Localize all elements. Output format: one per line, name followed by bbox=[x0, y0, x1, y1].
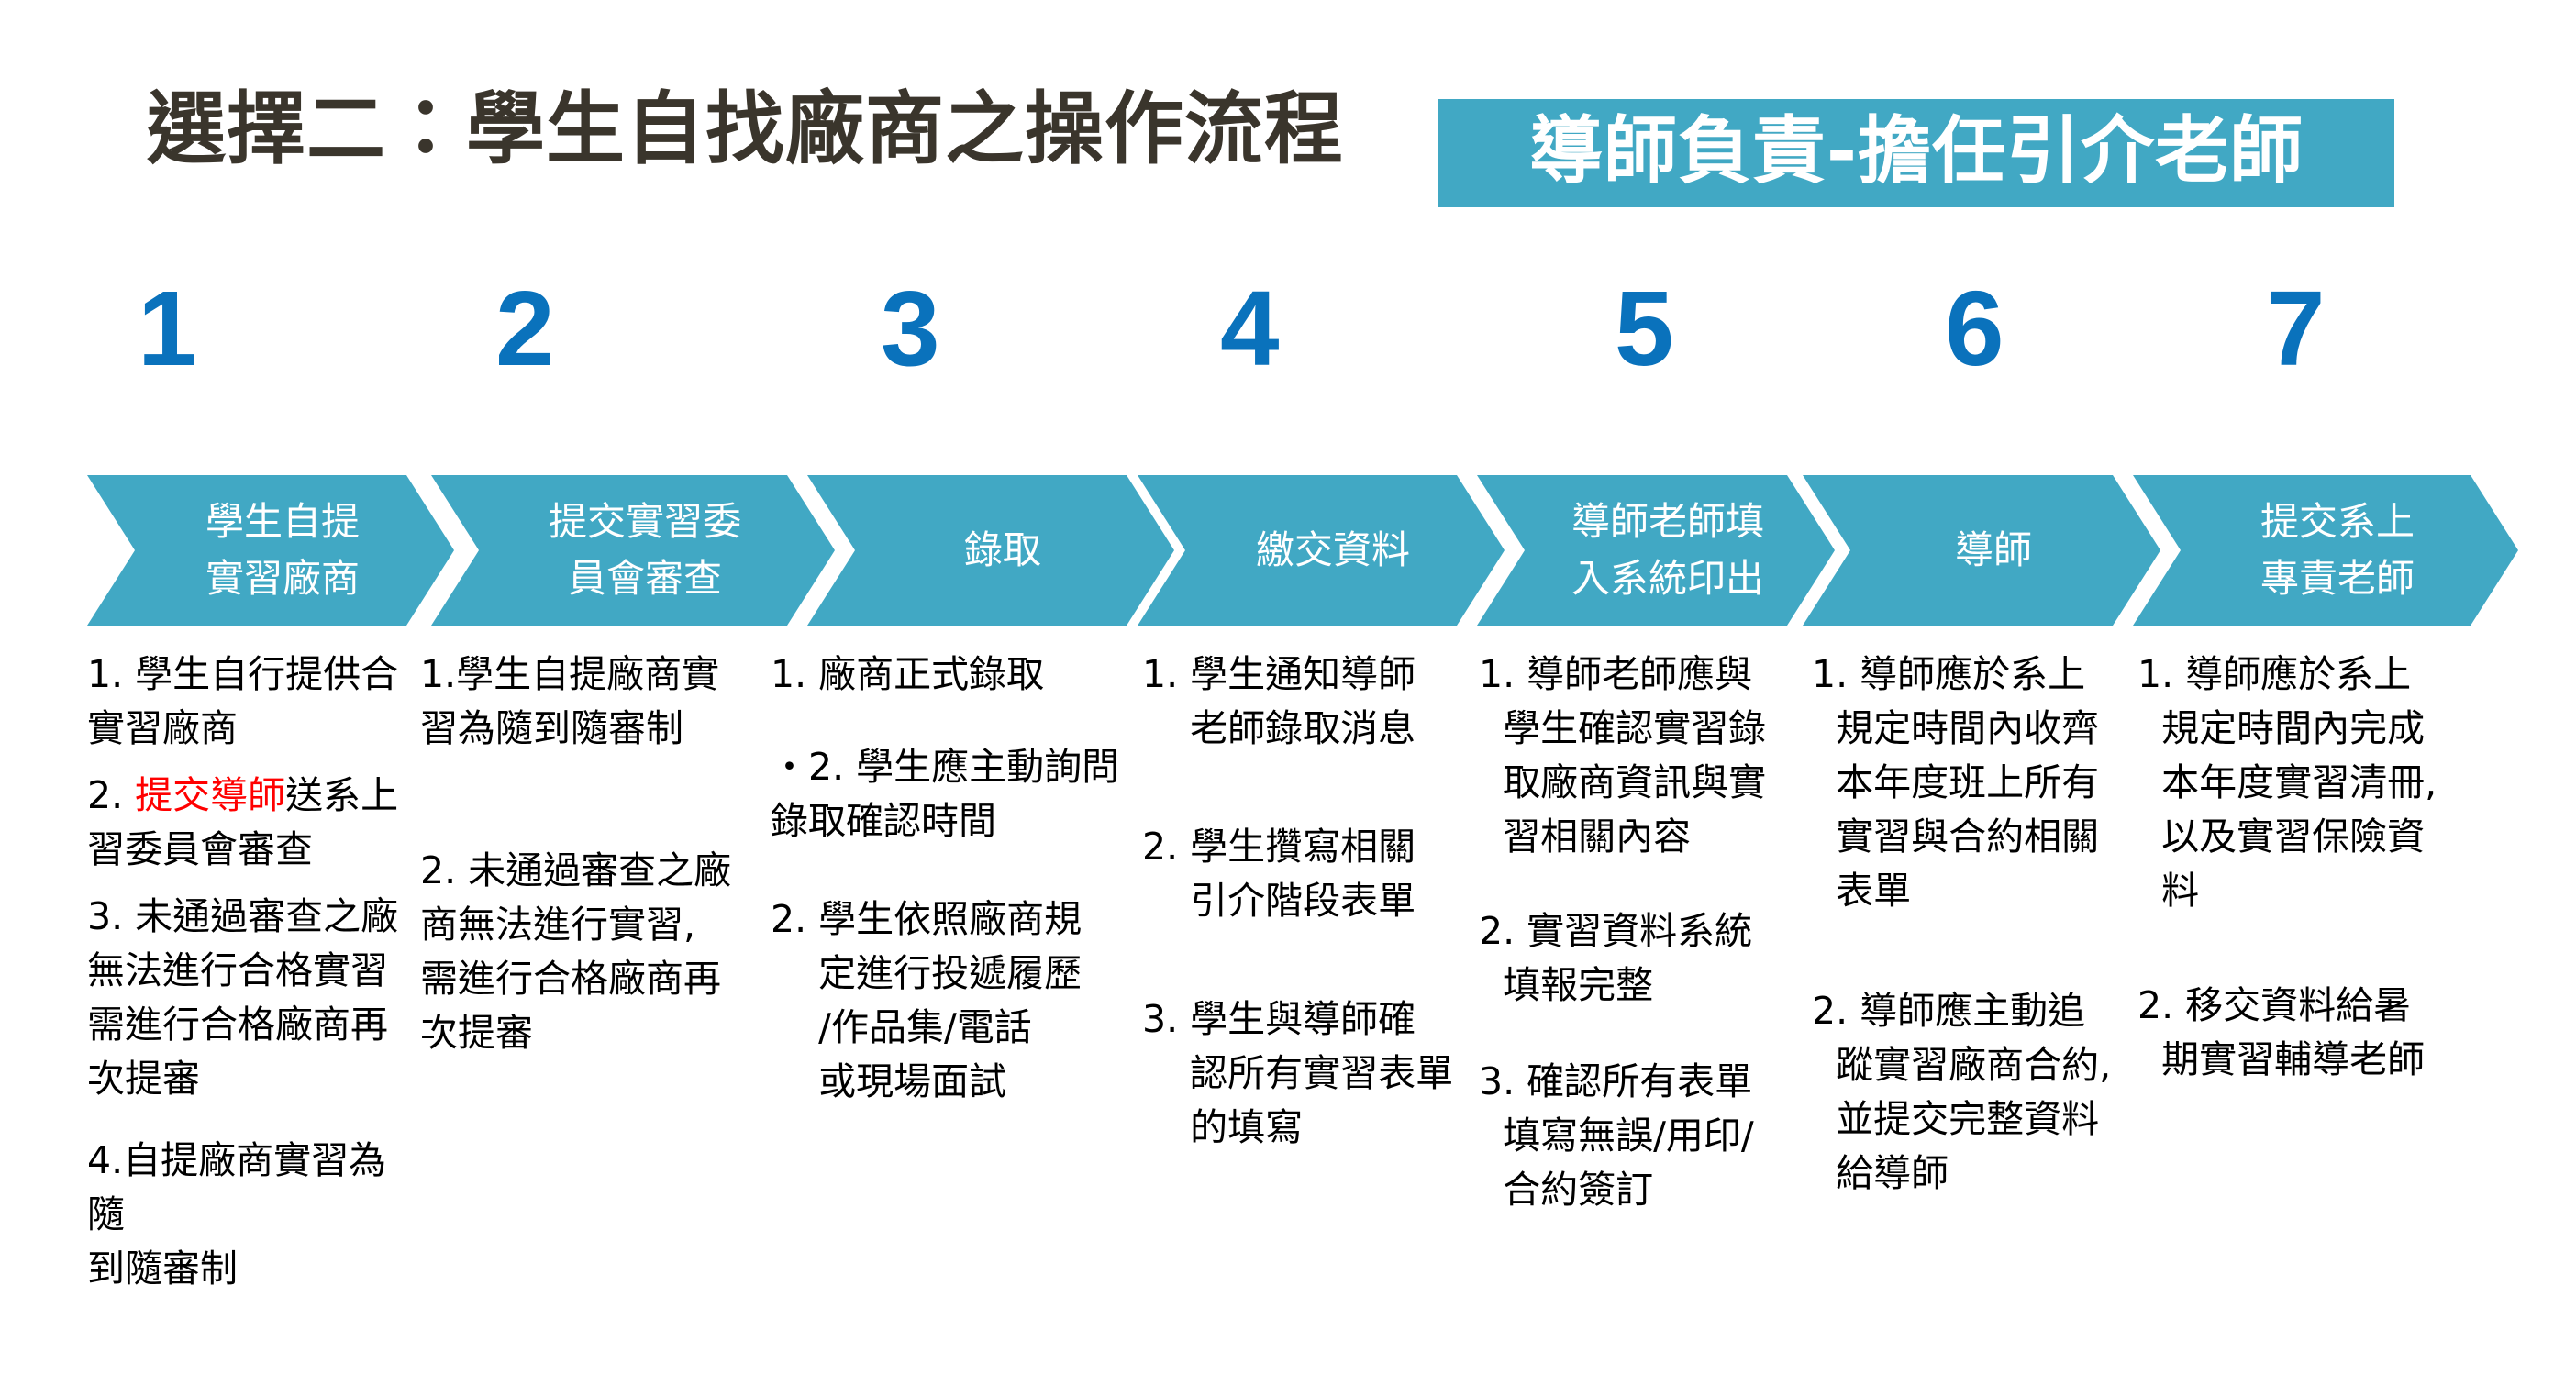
detail-item-text: 廠商正式錄取 bbox=[818, 652, 1044, 696]
chevron-label-line: 學生自提 bbox=[182, 493, 360, 550]
chevron-label-line: 入系統印出 bbox=[1548, 550, 1764, 607]
chevron-row: 學生自提實習廠商提交實習委員會審查錄取繳交資料導師老師填入系統印出導師提交系上專… bbox=[0, 475, 2576, 626]
detail-column-step-1: 1. 學生自行提供合 實習廠商2. 提交導師送系上 習委員會審查3. 未通過審查… bbox=[87, 648, 404, 1381]
chevron-label-line: 專責老師 bbox=[2237, 550, 2415, 607]
detail-item-marker: 2. bbox=[1479, 909, 1527, 953]
header: 選擇二：學生自找廠商之操作流程 導師負責-擔任引介老師 bbox=[0, 0, 2576, 248]
step-number-2: 2 bbox=[495, 275, 555, 382]
detail-item: 2. 實習資料系統 填報完整 bbox=[1479, 904, 1804, 1013]
chevron-label-line: 實習廠商 bbox=[182, 550, 360, 607]
detail-item-highlight: 提交導師 bbox=[135, 773, 285, 817]
detail-item-text: 自提廠商實習為隨 到隨審制 bbox=[87, 1138, 386, 1291]
detail-item-marker: 2. bbox=[771, 897, 818, 941]
detail-item-marker: 2. bbox=[1142, 825, 1190, 869]
detail-item: 3. 學生與導師確 認所有實習表單 的填寫 bbox=[1142, 992, 1472, 1155]
chevron-label-line: 提交實習委 bbox=[525, 493, 741, 550]
detail-item: 2. 學生攢寫相關 引介階段表單 bbox=[1142, 820, 1472, 928]
step-number-4: 4 bbox=[1220, 275, 1280, 382]
step-number-1: 1 bbox=[138, 275, 197, 382]
detail-item-marker: 1. bbox=[1479, 652, 1527, 696]
detail-item-marker: 1. bbox=[771, 652, 818, 696]
detail-item-marker: 2. bbox=[2137, 983, 2185, 1027]
detail-item-marker: 2. bbox=[420, 848, 468, 892]
flow-diagram-page: 選擇二：學生自找廠商之操作流程 導師負責-擔任引介老師 1234567 學生自提… bbox=[0, 0, 2576, 1385]
detail-item: 2. 移交資料給暑 期實習輔導老師 bbox=[2137, 979, 2440, 1087]
detail-item: 1. 學生自行提供合 實習廠商 bbox=[87, 648, 404, 756]
chevron-label-line: 繳交資料 bbox=[1232, 522, 1410, 579]
detail-item-marker: 3. bbox=[87, 894, 135, 938]
detail-item-marker: ・2. bbox=[771, 745, 856, 789]
detail-item: 1. 廠商正式錄取 bbox=[771, 648, 1133, 702]
detail-item: 3. 未通過審查之廠 無法進行合格實習 需進行合格廠商再 次提審 bbox=[87, 890, 404, 1106]
detail-item: 2. 學生依照廠商規 定進行投遞履歷 /作品集/電話 或現場面試 bbox=[771, 892, 1133, 1109]
detail-item-marker: 1. bbox=[87, 652, 135, 696]
detail-item: 1. 導師老師應與 學生確認實習錄 取廠商資訊與實 習相關內容 bbox=[1479, 648, 1804, 864]
detail-item: 1. 學生通知導師 老師錄取消息 bbox=[1142, 648, 1472, 756]
detail-item: 4.自提廠商實習為隨 到隨審制 bbox=[87, 1134, 404, 1296]
role-badge-label: 導師負責-擔任引介老師 bbox=[1529, 115, 2304, 188]
detail-item-marker: 2. bbox=[87, 773, 135, 817]
chevron-label-line: 導師 bbox=[1931, 522, 2032, 579]
detail-item-marker: 1. bbox=[1142, 652, 1190, 696]
detail-column-step-3: 1. 廠商正式錄取・2. 學生應主動詢問 錄取確認時間2. 學生依照廠商規 定進… bbox=[771, 648, 1133, 1381]
chevron-label-line: 員會審查 bbox=[544, 550, 722, 607]
detail-item: 1.學生自提廠商實 習為隨到隨審制 bbox=[420, 648, 764, 756]
detail-item-marker: 3. bbox=[1479, 1059, 1527, 1103]
step-detail-columns: 1. 學生自行提供合 實習廠商2. 提交導師送系上 習委員會審查3. 未通過審查… bbox=[0, 648, 2576, 1381]
detail-column-step-5: 1. 導師老師應與 學生確認實習錄 取廠商資訊與實 習相關內容2. 實習資料系統… bbox=[1479, 648, 1804, 1381]
detail-item: 1. 導師應於系上 規定時間內完成 本年度實習清冊, 以及實習保險資 料 bbox=[2137, 648, 2440, 918]
detail-item: 2. 未通過審查之廠 商無法進行實習, 需進行合格廠商再 次提審 bbox=[420, 844, 764, 1060]
chevron-step-6[interactable]: 導師 bbox=[1803, 475, 2160, 626]
role-badge: 導師負責-擔任引介老師 bbox=[1438, 99, 2394, 207]
detail-item: ・2. 學生應主動詢問 錄取確認時間 bbox=[771, 740, 1133, 848]
chevron-label-line: 錄取 bbox=[940, 522, 1041, 579]
detail-column-step-2: 1.學生自提廠商實 習為隨到隨審制2. 未通過審查之廠 商無法進行實習, 需進行… bbox=[420, 648, 764, 1381]
detail-column-step-7: 1. 導師應於系上 規定時間內完成 本年度實習清冊, 以及實習保險資 料2. 移… bbox=[2137, 648, 2440, 1381]
chevron-step-4[interactable]: 繳交資料 bbox=[1138, 475, 1505, 626]
detail-item-marker: 4. bbox=[87, 1138, 123, 1182]
detail-item-marker: 2. bbox=[1812, 989, 1860, 1033]
chevron-label-line: 提交系上 bbox=[2237, 493, 2415, 550]
chevron-label-line: 導師老師填 bbox=[1548, 493, 1764, 550]
detail-column-step-4: 1. 學生通知導師 老師錄取消息2. 學生攢寫相關 引介階段表單3. 學生與導師… bbox=[1142, 648, 1472, 1381]
page-title: 選擇二：學生自找廠商之操作流程 bbox=[147, 90, 1344, 169]
detail-item: 2. 導師應主動追 蹤實習廠商合約, 並提交完整資料 給導師 bbox=[1812, 984, 2133, 1201]
step-number-6: 6 bbox=[1945, 275, 2004, 382]
detail-item-marker: 3. bbox=[1142, 997, 1190, 1041]
detail-item-text: 學生自提廠商實 習為隨到隨審制 bbox=[420, 652, 719, 750]
step-number-7: 7 bbox=[2266, 275, 2326, 382]
chevron-step-3[interactable]: 錄取 bbox=[807, 475, 1174, 626]
detail-item-marker: 1. bbox=[420, 652, 456, 696]
chevron-step-7[interactable]: 提交系上專責老師 bbox=[2133, 475, 2518, 626]
chevron-step-5[interactable]: 導師老師填入系統印出 bbox=[1477, 475, 1835, 626]
detail-item-marker: 1. bbox=[2137, 652, 2185, 696]
chevron-step-1[interactable]: 學生自提實習廠商 bbox=[87, 475, 454, 626]
step-number-3: 3 bbox=[881, 275, 940, 382]
step-number-5: 5 bbox=[1615, 275, 1674, 382]
detail-item: 1. 導師應於系上 規定時間內收齊 本年度班上所有 實習與合約相關 表單 bbox=[1812, 648, 2133, 918]
detail-column-step-6: 1. 導師應於系上 規定時間內收齊 本年度班上所有 實習與合約相關 表單2. 導… bbox=[1812, 648, 2133, 1381]
step-number-row: 1234567 bbox=[0, 275, 2576, 404]
detail-item: 3. 確認所有表單 填寫無誤/用印/ 合約簽訂 bbox=[1479, 1055, 1804, 1217]
detail-item: 2. 提交導師送系上 習委員會審查 bbox=[87, 769, 404, 877]
chevron-step-2[interactable]: 提交實習委員會審查 bbox=[431, 475, 835, 626]
detail-item-marker: 1. bbox=[1812, 652, 1860, 696]
